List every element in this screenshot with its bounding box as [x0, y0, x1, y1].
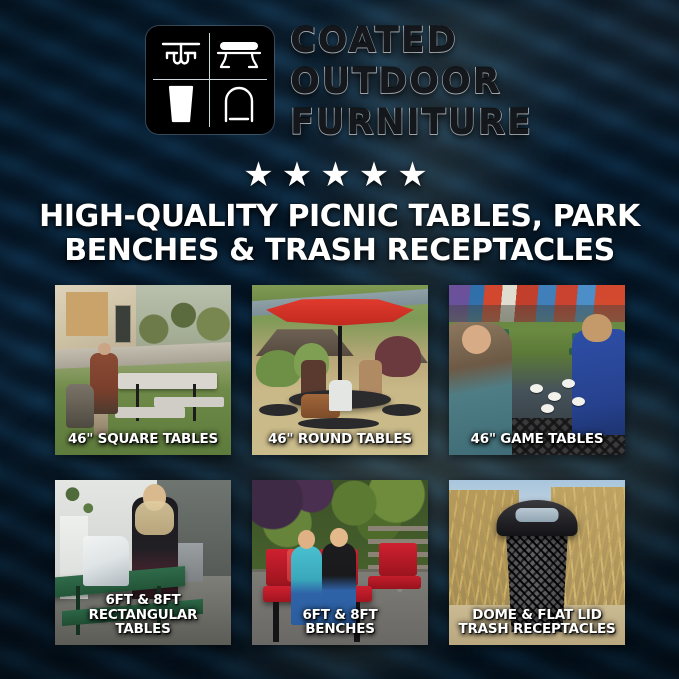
brand-name-line-2: OUTDOOR: [290, 65, 502, 100]
trash-receptacle-icon: [153, 80, 210, 127]
marketing-poster: COATED OUTDOOR FURNITURE ★★★★★ HIGH-QUAL…: [0, 0, 679, 679]
photo-round-tables: [252, 285, 428, 455]
star-icon-1: ★: [243, 158, 281, 192]
product-tile-grid: 46" SQUARE TABLES 46" ROUND TABLES: [55, 285, 625, 645]
star-rating: ★★★★★: [0, 158, 679, 192]
picnic-table-icon: [153, 33, 210, 80]
product-tile-square-tables[interactable]: 46" SQUARE TABLES: [55, 285, 231, 455]
brand-name-line-1: COATED: [290, 24, 458, 59]
brand-name-line-3: FURNITURE: [290, 106, 533, 141]
product-tile-game-tables[interactable]: 46" GAME TABLES: [449, 285, 625, 455]
star-icon-3: ★: [320, 158, 358, 192]
photo-square-tables: [55, 285, 231, 455]
product-caption: 6FT & 8FT BENCHES: [256, 608, 424, 637]
headline-line-2: BENCHES & TRASH RECEPTACLES: [26, 234, 653, 268]
product-tile-round-tables[interactable]: 46" ROUND TABLES: [252, 285, 428, 455]
star-icon-4: ★: [359, 158, 397, 192]
headline-line-1: HIGH-QUALITY PICNIC TABLES, PARK: [26, 200, 653, 234]
product-tile-trash-receptacles[interactable]: DOME & FLAT LID TRASH RECEPTACLES: [449, 480, 625, 645]
product-caption: 6FT & 8FT RECTANGULAR TABLES: [59, 593, 227, 637]
bike-rack-icon: [210, 80, 267, 127]
star-icon-2: ★: [282, 158, 320, 192]
product-caption: DOME & FLAT LID TRASH RECEPTACLES: [453, 608, 621, 637]
four-panel-furniture-logo-icon: [146, 26, 274, 134]
page-title: HIGH-QUALITY PICNIC TABLES, PARK BENCHES…: [26, 200, 653, 267]
star-icon-5: ★: [397, 158, 435, 192]
product-tile-rectangular-tables[interactable]: 6FT & 8FT RECTANGULAR TABLES: [55, 480, 231, 645]
bench-icon: [210, 33, 267, 80]
product-caption: 46" SQUARE TABLES: [59, 432, 227, 447]
product-caption: 46" ROUND TABLES: [256, 432, 424, 447]
brand-logo: COATED OUTDOOR FURNITURE: [0, 26, 679, 141]
photo-game-tables: [449, 285, 625, 455]
brand-wordmark: COATED OUTDOOR FURNITURE: [290, 24, 533, 141]
product-tile-benches[interactable]: 6FT & 8FT BENCHES: [252, 480, 428, 645]
product-caption: 46" GAME TABLES: [453, 432, 621, 447]
